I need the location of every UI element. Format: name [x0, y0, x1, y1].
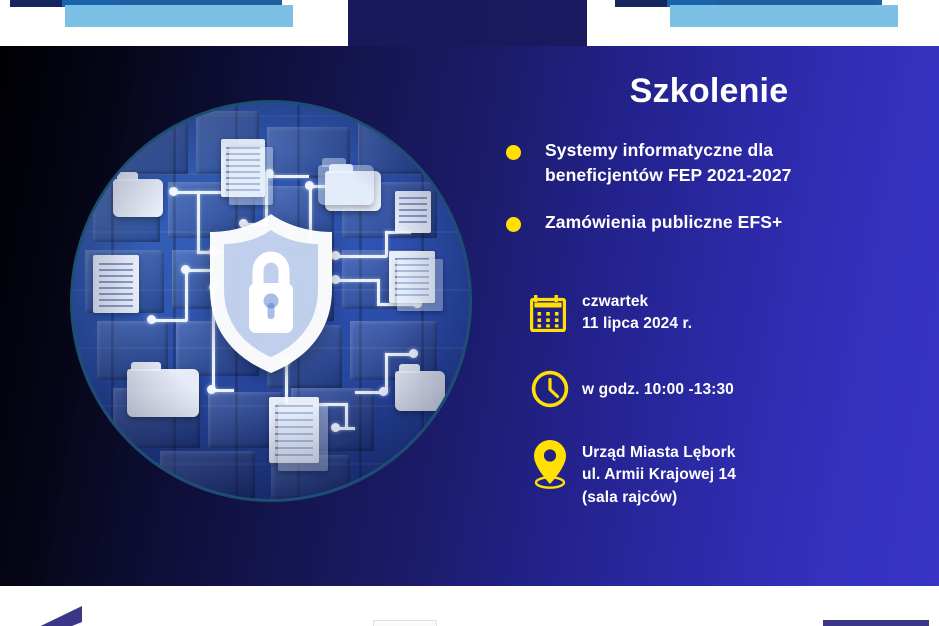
- top-branding-strip: [0, 0, 939, 46]
- top-left-logo-card: [0, 0, 348, 46]
- logo-bar-light-blue: [670, 5, 898, 27]
- topic-text: Systemy informatyczne dla beneficjentów …: [545, 138, 792, 188]
- topic-line-2: beneficjentów FEP 2021-2027: [545, 163, 792, 188]
- list-item: Systemy informatyczne dla beneficjentów …: [506, 138, 926, 188]
- logo-bar-light-blue: [65, 5, 293, 27]
- date-line-2: 11 lipca 2024 r.: [582, 313, 692, 335]
- time-line-1: w godz. 10:00 -13:30: [582, 379, 734, 401]
- detail-row-location: Urząd Miasta Lębork ul. Armii Krajowej 1…: [530, 441, 930, 509]
- list-item: Zamówienia publiczne EFS+: [506, 210, 926, 235]
- unia-europejska-mark: [823, 620, 929, 626]
- detail-row-time: w godz. 10:00 -13:30: [530, 366, 930, 412]
- bullet-dot-icon: [506, 217, 521, 232]
- top-right-logo-card: [587, 0, 939, 46]
- event-details: czwartek 11 lipca 2024 r. w godz. 10:00 …: [530, 289, 930, 538]
- page-title: Szkolenie: [494, 72, 924, 111]
- detail-row-date: czwartek 11 lipca 2024 r.: [530, 289, 930, 337]
- topic-text: Zamówienia publiczne EFS+: [545, 210, 782, 235]
- location-line-3: (sala rajców): [582, 487, 736, 509]
- hero-image-circle: [73, 103, 469, 499]
- topic-line-1: Systemy informatyczne dla: [545, 138, 792, 163]
- clock-icon: [530, 366, 582, 412]
- detail-text-location: Urząd Miasta Lębork ul. Armii Krajowej 1…: [582, 441, 736, 509]
- circle-vignette: [73, 103, 469, 499]
- poster-main-panel: Szkolenie Systemy informatyczne dla bene…: [0, 46, 939, 586]
- bullet-dot-icon: [506, 145, 521, 160]
- poster-content-column: Szkolenie Systemy informatyczne dla bene…: [494, 46, 939, 586]
- date-line-1: czwartek: [582, 291, 692, 313]
- topic-list: Systemy informatyczne dla beneficjentów …: [506, 138, 926, 257]
- detail-text-time: w godz. 10:00 -13:30: [582, 366, 734, 401]
- location-pin-icon: [530, 441, 582, 489]
- location-line-1: Urząd Miasta Lębork: [582, 442, 736, 464]
- topic-line-1: Zamówienia publiczne EFS+: [545, 210, 782, 235]
- location-line-2: ul. Armii Krajowej 14: [582, 464, 736, 486]
- bottom-branding-strip: [0, 586, 939, 626]
- rzeczpospolita-polska-mark: [373, 620, 437, 626]
- detail-text-date: czwartek 11 lipca 2024 r.: [582, 289, 692, 336]
- fundusze-europejskie-mark: [18, 600, 104, 626]
- calendar-icon: [530, 289, 582, 337]
